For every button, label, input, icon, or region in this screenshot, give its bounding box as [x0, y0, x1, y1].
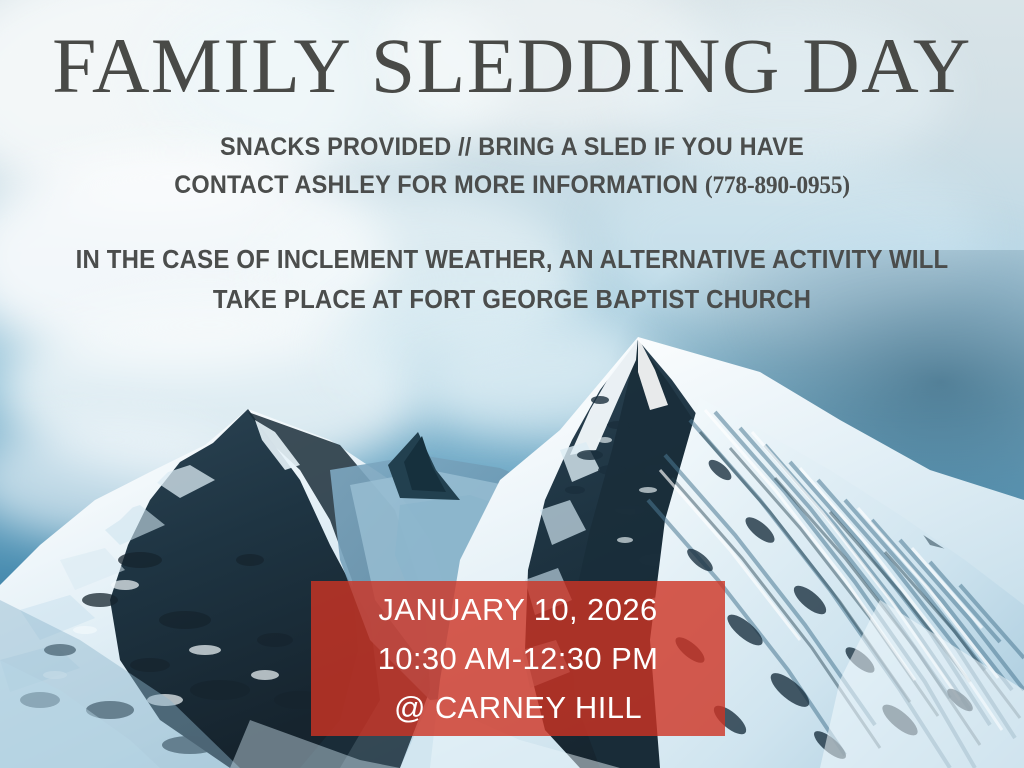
- event-details-box: JANUARY 10, 2026 10:30 AM-12:30 PM @ CAR…: [311, 581, 725, 736]
- alternate-venue-line: TAKE PLACE AT FORT GEORGE BAPTIST CHURCH: [31, 280, 994, 320]
- event-date: JANUARY 10, 2026: [378, 587, 657, 633]
- event-time: 10:30 AM-12:30 PM: [378, 636, 659, 682]
- contact-line: CONTACT ASHLEY FOR MORE INFORMATION (778…: [31, 166, 994, 205]
- info-block-contact: SNACKS PROVIDED // BRING A SLED IF YOU H…: [31, 128, 994, 205]
- poster-canvas: FAMILY SLEDDING DAY SNACKS PROVIDED // B…: [0, 0, 1024, 768]
- inclement-weather-line: IN THE CASE OF INCLEMENT WEATHER, AN ALT…: [31, 240, 994, 280]
- page-title: FAMILY SLEDDING DAY: [0, 26, 1024, 106]
- event-location: @ CARNEY HILL: [394, 685, 642, 731]
- contact-text: CONTACT ASHLEY FOR MORE INFORMATION: [174, 171, 705, 199]
- info-block-weather: IN THE CASE OF INCLEMENT WEATHER, AN ALT…: [31, 240, 994, 320]
- snacks-line: SNACKS PROVIDED // BRING A SLED IF YOU H…: [31, 128, 994, 166]
- phone-number: (778-890-0955): [705, 172, 850, 199]
